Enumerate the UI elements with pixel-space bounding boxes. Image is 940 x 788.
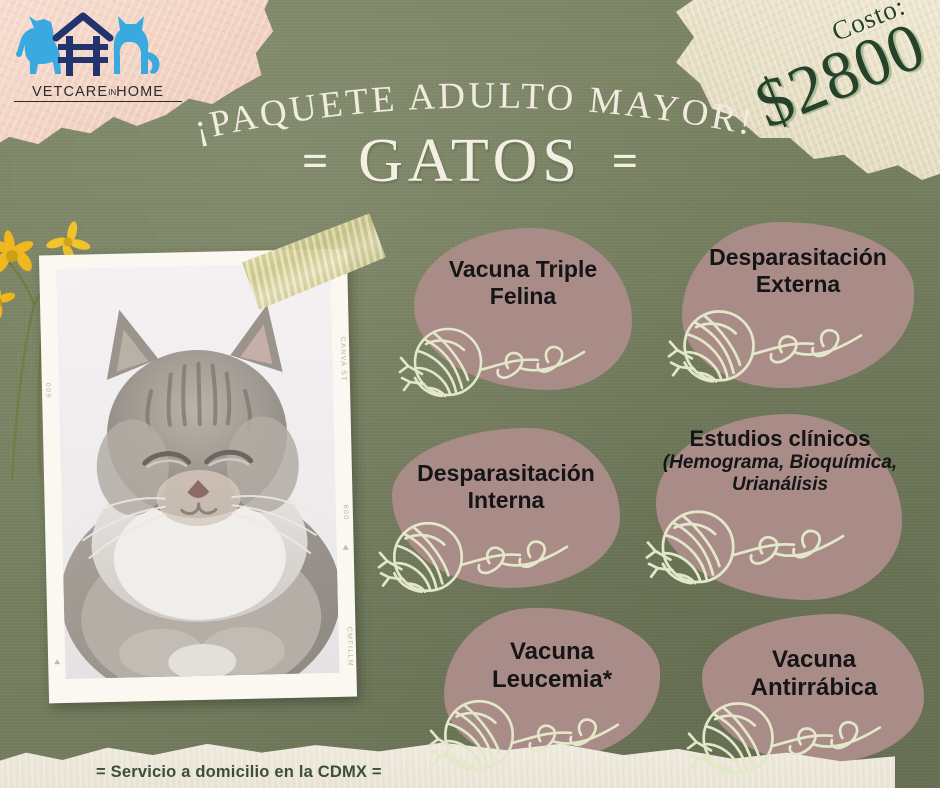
dog-silhouette-icon [16,16,61,74]
house-icon [56,16,110,76]
brand-logo: VETCAREINHOME [8,8,188,104]
film-mark-film: CMFILLM [345,627,353,668]
cat-photo [56,263,339,679]
service-label-vacuna-antirrabica: VacunaAntirrábica [700,646,928,702]
cat-silhouette-icon [114,16,160,74]
page-title: GATOS [358,126,582,197]
service-label-vacuna-leucemia: VacunaLeucemia* [444,638,660,694]
footer-note: = Servicio a domicilio en la CDMX = [96,763,382,782]
logo-wordmark: VETCAREINHOME [14,84,182,102]
sleeping-cat-illustration [56,263,339,679]
film-mark-iso-left: 600 [46,381,53,397]
logo-graphic [8,8,188,86]
film-triangle-icon [343,545,349,550]
yarn-ball-icon [686,692,884,788]
yarn-ball-icon [666,300,866,396]
service-label-desparasitacion-externa: DesparasitaciónExterna [676,244,920,297]
service-label-vacuna-triple-felina: Vacuna TripleFelina [414,256,632,309]
film-mark-canva: CANVA ST [339,337,347,382]
yarn-ball-icon [398,318,588,410]
film-mark-iso-right: 600 [342,505,349,521]
service-label-estudios-clinicos: Estudios clínicos (Hemograma, Bioquímica… [654,426,906,497]
yarn-ball-icon [428,690,622,784]
flower-head [0,230,35,276]
film-triangle-icon [54,659,60,664]
headline-right-mark: = [612,143,638,180]
headline-left-mark: = [302,143,328,180]
yarn-ball-icon [376,512,572,606]
poster-canvas: VETCAREINHOME Costo: $2800 ¡PAQUETE ADUL… [0,0,940,788]
yarn-ball-icon [644,500,848,598]
flower-head [0,283,16,319]
service-label-desparasitacion-interna: DesparasitaciónInterna [386,460,626,513]
headline-main-row: = GATOS = [0,126,940,197]
photo-card: CANVA ST 600 CMFILLM 600 [39,249,357,704]
service-sublabel-estudios-clinicos: (Hemograma, Bioquímica, Urianálisis [654,452,906,498]
